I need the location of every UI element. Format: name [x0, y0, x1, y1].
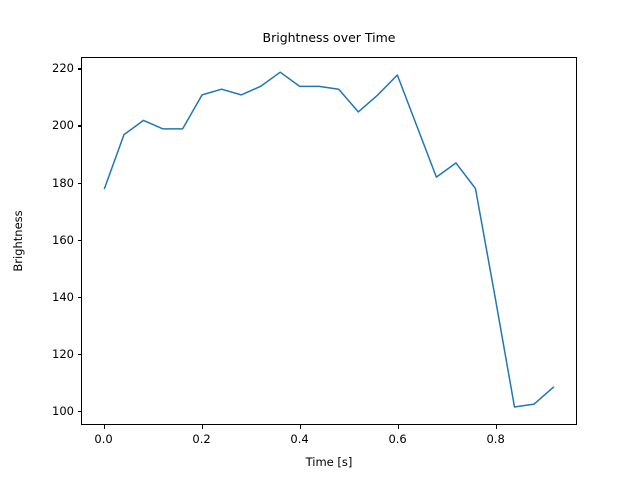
y-tick-mark — [78, 125, 82, 126]
x-tick-mark — [496, 425, 497, 429]
y-tick-mark — [78, 68, 82, 69]
x-tick-mark — [104, 425, 105, 429]
x-axis-label: Time [s] — [81, 455, 577, 469]
y-tick-label: 160 — [30, 233, 74, 247]
x-tick-label: 0.4 — [290, 432, 308, 446]
y-tick-label: 200 — [30, 118, 74, 132]
x-tick-mark — [202, 425, 203, 429]
y-tick-mark — [78, 240, 82, 241]
y-tick-mark — [78, 354, 82, 355]
x-tick-mark — [300, 425, 301, 429]
y-axis-label: Brightness — [11, 210, 25, 271]
y-tick-label: 220 — [30, 61, 74, 75]
plot-area — [81, 57, 577, 425]
figure-canvas: Brightness over Time Brightness Time [s]… — [0, 0, 640, 480]
y-tick-mark — [78, 183, 82, 184]
y-tick-label: 120 — [30, 347, 74, 361]
x-tick-label: 0.0 — [94, 432, 112, 446]
x-tick-mark — [398, 425, 399, 429]
y-tick-mark — [78, 411, 82, 412]
x-tick-label: 0.8 — [486, 432, 504, 446]
x-tick-label: 0.2 — [192, 432, 210, 446]
line-series-brightness — [82, 58, 576, 424]
chart-title: Brightness over Time — [81, 30, 577, 45]
x-tick-label: 0.6 — [388, 432, 406, 446]
y-tick-mark — [78, 297, 82, 298]
y-tick-label: 180 — [30, 176, 74, 190]
y-tick-label: 140 — [30, 290, 74, 304]
y-tick-label: 100 — [30, 404, 74, 418]
